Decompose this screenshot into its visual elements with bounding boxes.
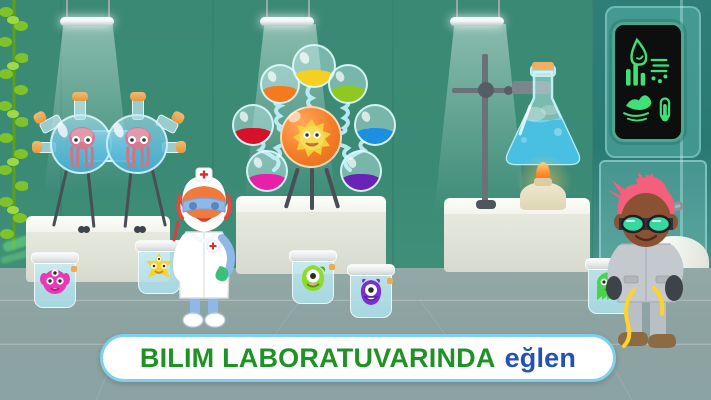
erlenmeyer-flask-on-stand[interactable]: [452, 48, 592, 218]
monitor-icons-group: [615, 25, 681, 139]
flask-leg-4: [150, 166, 167, 227]
creature-pink-left: [62, 124, 102, 168]
flask-magenta[interactable]: [246, 150, 288, 192]
scientist-doctor[interactable]: [166, 166, 242, 332]
water-droplet-icon: [632, 40, 647, 65]
scientist-pink-hair[interactable]: [604, 172, 690, 362]
lamp-cord-2a: [266, 0, 268, 18]
tripod-leg-2: [310, 168, 314, 210]
flask-cork-right-side: [176, 141, 186, 153]
ceiling-lamp-1: [60, 17, 114, 26]
jar-purple-creature[interactable]: [350, 264, 392, 318]
flask-lime[interactable]: [328, 64, 368, 104]
data-lines-icon: [652, 60, 669, 71]
flask-cork-top-left: [72, 92, 88, 101]
flask-cork-left-side: [32, 141, 42, 153]
jar-clip-purple: [387, 278, 393, 284]
erlenmeyer-flask[interactable]: [500, 62, 586, 168]
stand-pole: [482, 54, 488, 206]
lab-readout-panel[interactable]: [612, 22, 684, 142]
creature-purple-one-eye: [356, 276, 386, 308]
molecule-distillation-rig[interactable]: [218, 44, 404, 210]
banner-text-primary: BILIM LABORATUVARINDA: [140, 343, 496, 374]
double-chamber-flask[interactable]: [34, 92, 184, 222]
lamp-cord-1a: [66, 0, 68, 18]
ceiling-lamp-2: [260, 17, 314, 26]
screenshot-stage: BILIM LABORATUVARINDA eğlen: [0, 0, 711, 400]
creature-green-one-eye: [298, 262, 328, 294]
flask-red[interactable]: [232, 104, 274, 146]
creature-pink-right: [118, 124, 158, 168]
flask-blue[interactable]: [354, 104, 396, 146]
flask-foot-4: [139, 226, 146, 233]
scientist-pink-hair-figure: [604, 172, 690, 362]
jar-pink-creature[interactable]: [34, 252, 76, 308]
scientist-doctor-figure: [166, 166, 242, 332]
flask-leg-2: [86, 166, 95, 228]
lamp-cord-2b: [308, 0, 310, 18]
lamp-cord-3a: [456, 0, 458, 18]
jar-clip-green: [329, 264, 335, 270]
jar-green-creature[interactable]: [292, 250, 334, 304]
flask-leg-3: [124, 166, 133, 228]
ceiling-lamp-3: [450, 17, 504, 26]
flask-leg-1: [52, 166, 69, 227]
jar-clip-pink: [71, 266, 77, 272]
splash-icon: [624, 95, 651, 120]
lamp-cord-3b: [498, 0, 500, 18]
thermometer-icon: [661, 99, 669, 122]
data-dots-icon: [651, 74, 667, 83]
stand-hub: [478, 82, 494, 98]
creature-pink-three-eye: [40, 265, 70, 297]
flask-cork-top-right: [130, 92, 146, 101]
burner-wick: [534, 178, 552, 186]
creature-sun-yellow: [292, 118, 332, 158]
wall-vine-plant: [0, 0, 28, 250]
lamp-cord-1b: [108, 0, 110, 18]
flask-foot-2: [83, 226, 90, 233]
promo-banner: BILIM LABORATUVARINDA eğlen: [100, 334, 616, 382]
banner-text-secondary: eğlen: [505, 343, 577, 374]
bar-chart-icon: [626, 64, 645, 86]
flask-purple[interactable]: [340, 150, 382, 192]
stand-base: [476, 200, 496, 209]
burner-dome: [520, 182, 566, 210]
